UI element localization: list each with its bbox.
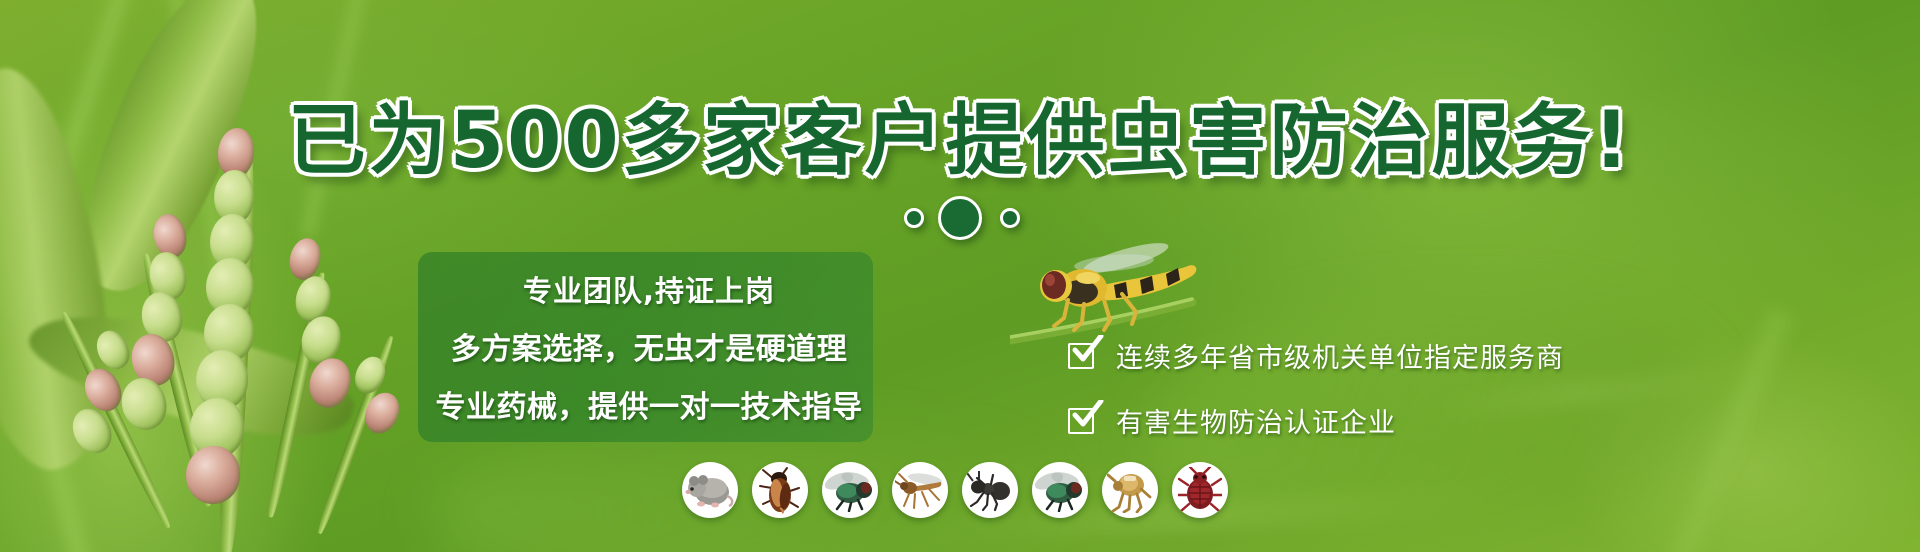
- pest-icon-circle[interactable]: [752, 462, 808, 518]
- pest-icon-circle[interactable]: [892, 462, 948, 518]
- pest-icon-circle[interactable]: [1172, 462, 1228, 518]
- check-mark-icon: [1070, 335, 1104, 367]
- bedbug-icon: [1178, 467, 1222, 513]
- checklist-item: 连续多年省市级机关单位指定服务商: [1068, 336, 1788, 375]
- check-mark-icon: [1070, 400, 1104, 432]
- checklist-item-label: 连续多年省市级机关单位指定服务商: [1116, 336, 1564, 375]
- selling-points-text: 专业团队,持证上岗 多方案选择，无虫才是硬道理 专业药械，提供一对一技术指导: [418, 252, 880, 442]
- checkbox-checked-icon: [1068, 406, 1100, 436]
- cockroach-icon: [757, 466, 803, 514]
- pest-icon-circle[interactable]: [1032, 462, 1088, 518]
- rodent-icon: [685, 468, 735, 512]
- decor-dot-small-right: [1000, 208, 1020, 228]
- checklist-item-label: 有害生物防治认证企业: [1116, 401, 1396, 440]
- pest-control-hero-banner: 已为500多家客户提供虫害防治服务!: [0, 0, 1920, 552]
- flea-icon: [1107, 467, 1153, 513]
- hoverfly-icon: [1010, 236, 1230, 346]
- certification-checklist: 连续多年省市级机关单位指定服务商 有害生物防治认证企业: [1068, 336, 1788, 466]
- hoverfly-on-stem: [1010, 236, 1230, 346]
- pest-icon-circle[interactable]: [822, 462, 878, 518]
- checklist-item: 有害生物防治认证企业: [1068, 401, 1788, 440]
- pest-type-icon-row: [682, 462, 1228, 518]
- decor-dot-small-left: [904, 208, 924, 228]
- pest-icon-circle[interactable]: [962, 462, 1018, 518]
- selling-point-line-1: 专业团队,持证上岗: [523, 268, 775, 310]
- decor-dot-large-center: [938, 196, 982, 240]
- selling-point-line-3: 专业药械，提供一对一技术指导: [436, 382, 863, 426]
- fly-icon: [825, 468, 875, 512]
- pest-icon-circle[interactable]: [682, 462, 738, 518]
- checkbox-checked-icon: [1068, 341, 1100, 371]
- pest-icon-circle[interactable]: [1102, 462, 1158, 518]
- decorative-dot-group: [0, 192, 1920, 252]
- ant-icon: [967, 468, 1013, 512]
- page-title: 已为500多家客户提供虫害防治服务!: [0, 78, 1920, 190]
- plant-bud: [186, 446, 240, 504]
- selling-point-line-2: 多方案选择，无虫才是硬道理: [451, 324, 848, 368]
- mosquito-icon: [895, 468, 945, 512]
- fly-icon: [1035, 468, 1085, 512]
- headline-text: 已为500多家客户提供虫害防治服务!: [288, 78, 1632, 190]
